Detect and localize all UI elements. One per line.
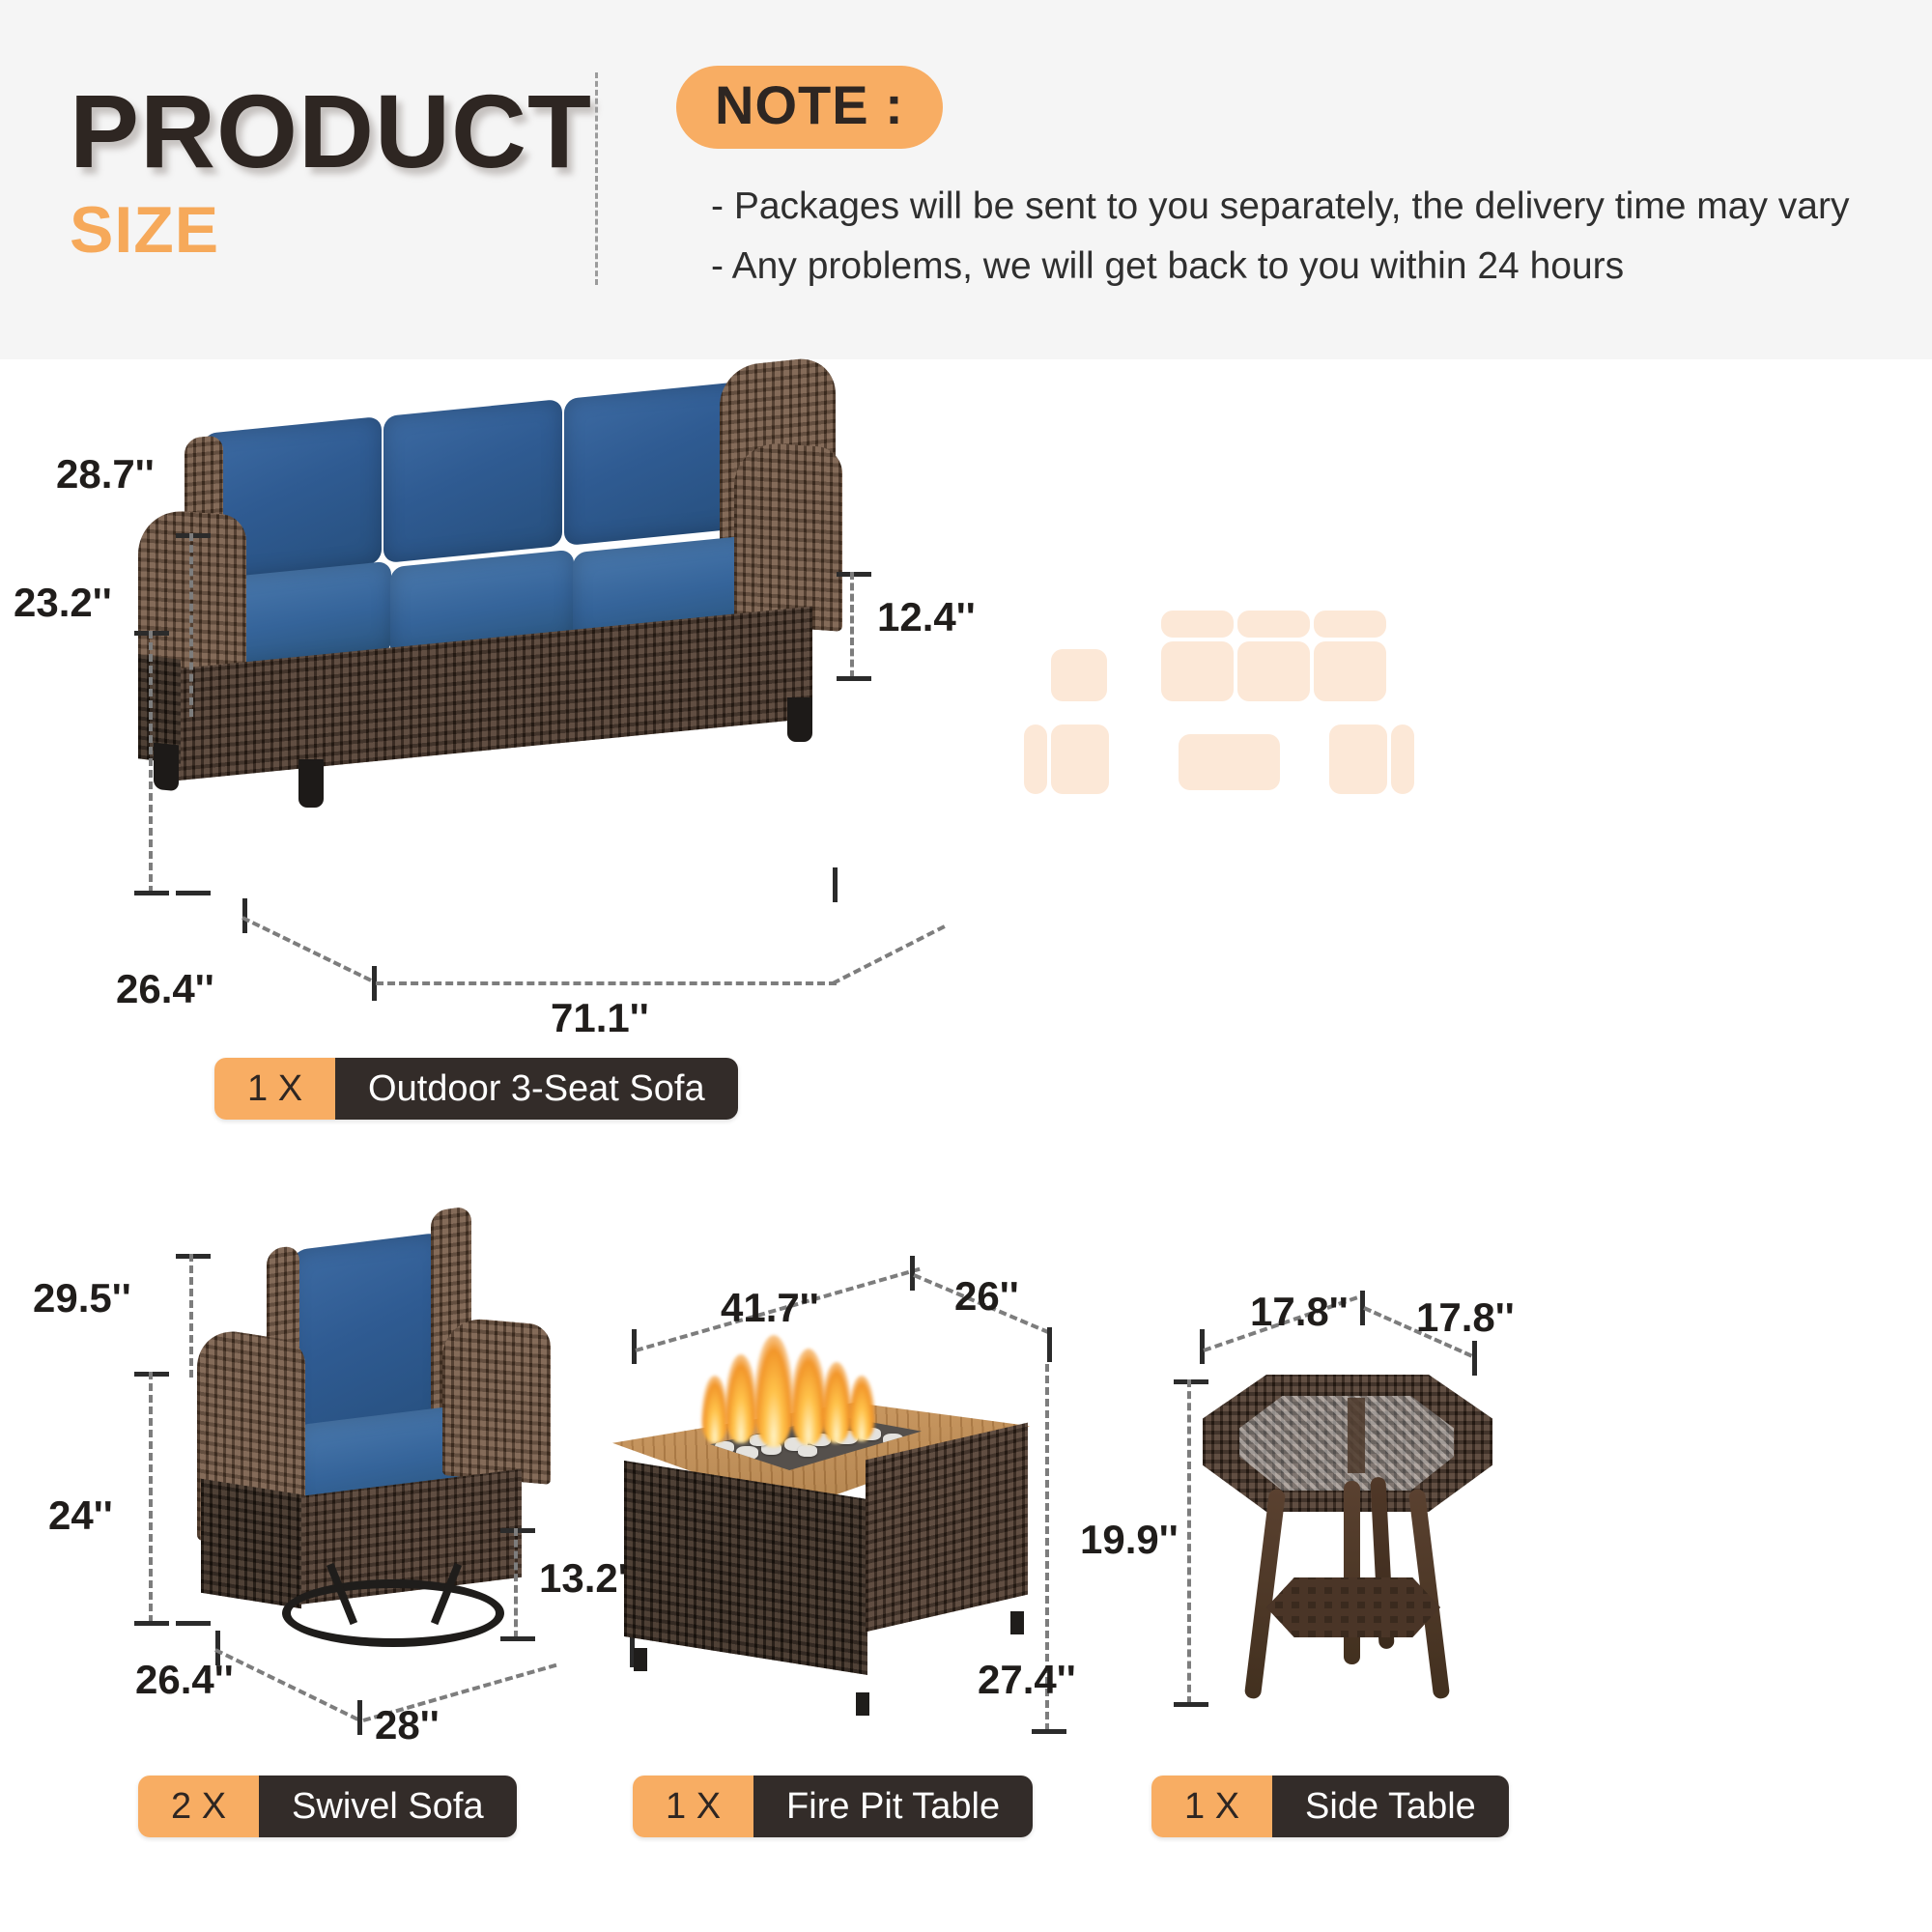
chair-dim-overall-height: 29.5'' bbox=[33, 1275, 131, 1321]
sofa-vline-arm bbox=[149, 631, 153, 894]
fire-pit-foot-left bbox=[634, 1648, 647, 1671]
firepit-tick-left bbox=[632, 1329, 637, 1364]
sofa-tick-bottom-b bbox=[176, 891, 211, 895]
silhouette-sofa-seat-1 bbox=[1161, 641, 1234, 701]
chair-vline-seat bbox=[514, 1528, 518, 1638]
silhouette-side-table-top bbox=[1051, 649, 1107, 701]
sidetable-tick-h-top bbox=[1174, 1379, 1208, 1384]
product-label-swivel-qty: 2 X bbox=[138, 1776, 259, 1837]
sofa-tick-top bbox=[176, 533, 211, 538]
product-label-sofa-qty: 1 X bbox=[214, 1058, 335, 1120]
sidetable-tick-left bbox=[1200, 1329, 1205, 1364]
chair-tick-corner bbox=[357, 1700, 362, 1735]
sidetable-dim-height: 19.9'' bbox=[1080, 1517, 1179, 1563]
sofa-dim-overall-height: 28.7'' bbox=[56, 451, 155, 497]
fire-rock bbox=[798, 1445, 817, 1457]
product-label-firepit-qty: 1 X bbox=[633, 1776, 753, 1837]
note-line-1: - Packages will be sent to you separatel… bbox=[711, 177, 1889, 237]
sofa-tick-bottom-a bbox=[134, 891, 169, 895]
chair-dim-arm-height: 24'' bbox=[48, 1492, 113, 1539]
sofa-leg-front-right bbox=[298, 759, 324, 808]
sofa-dim-depth: 26.4'' bbox=[116, 966, 214, 1012]
firepit-dim-length: 41.7'' bbox=[721, 1285, 819, 1331]
product-label-firepit-name: Fire Pit Table bbox=[753, 1776, 1033, 1837]
firepit-dim-width: 26'' bbox=[954, 1273, 1019, 1320]
firepit-tick-height-bottom bbox=[1032, 1729, 1066, 1734]
fire-pit-foot-right bbox=[856, 1692, 869, 1716]
title-size: SIZE bbox=[70, 197, 572, 263]
sidetable-dim-depth: 17.8'' bbox=[1416, 1294, 1515, 1341]
note-line-2: - Any problems, we will get back to you … bbox=[711, 237, 1889, 297]
silhouette-sofa-back-3 bbox=[1314, 611, 1386, 638]
sofa-dim-seat-height: 12.4'' bbox=[877, 594, 976, 640]
product-label-sidetable-name: Side Table bbox=[1272, 1776, 1509, 1837]
set-layout-silhouette bbox=[1024, 609, 1430, 821]
chair-tick-top bbox=[176, 1254, 211, 1259]
silhouette-chair-right-seat bbox=[1329, 724, 1387, 794]
note-badge: NOTE : bbox=[676, 66, 943, 149]
silhouette-chair-right-arm bbox=[1391, 724, 1414, 794]
silhouette-sofa-back-1 bbox=[1161, 611, 1234, 638]
sofa-tick-seat-top bbox=[837, 572, 871, 577]
product-label-firepit: 1 X Fire Pit Table bbox=[633, 1776, 1033, 1837]
flame bbox=[701, 1376, 728, 1443]
fire-pit-cabinet-front bbox=[624, 1461, 867, 1675]
product-label-swivel: 2 X Swivel Sofa bbox=[138, 1776, 517, 1837]
product-label-sofa-name: Outdoor 3-Seat Sofa bbox=[335, 1058, 738, 1120]
side-table-center-post bbox=[1348, 1398, 1365, 1473]
chair-base-side bbox=[201, 1479, 301, 1608]
silhouette-chair-left-seat bbox=[1051, 724, 1109, 794]
chair-swivel-base bbox=[282, 1579, 504, 1647]
sofa-right-arm bbox=[734, 440, 842, 632]
header-divider bbox=[595, 72, 598, 285]
side-table-lower-shelf bbox=[1266, 1577, 1440, 1637]
sidetable-vline-height bbox=[1187, 1379, 1191, 1704]
product-label-swivel-name: Swivel Sofa bbox=[259, 1776, 517, 1837]
sofa-illustration bbox=[208, 454, 884, 937]
flame bbox=[821, 1362, 852, 1443]
silhouette-chair-left-arm bbox=[1024, 724, 1047, 794]
silhouette-sofa-back-2 bbox=[1237, 611, 1310, 638]
flame bbox=[848, 1376, 875, 1441]
fire-pit-cabinet-side bbox=[866, 1423, 1028, 1633]
sofa-tick-seat-bottom bbox=[837, 676, 871, 681]
firepit-tick-right bbox=[1047, 1327, 1052, 1362]
fire-pit-foot-far bbox=[1010, 1611, 1024, 1634]
sofa-tick-width-end bbox=[833, 867, 838, 902]
chair-dim-depth: 26.4'' bbox=[135, 1657, 234, 1703]
sidetable-dim-width: 17.8'' bbox=[1250, 1289, 1349, 1335]
sofa-vline-seat bbox=[850, 572, 854, 678]
sofa-dim-width: 71.1'' bbox=[551, 995, 649, 1041]
page-title: PRODUCT SIZE bbox=[70, 79, 572, 263]
product-label-sidetable: 1 X Side Table bbox=[1151, 1776, 1509, 1837]
sofa-back-cushion-3 bbox=[564, 382, 743, 546]
sofa-width-line bbox=[376, 981, 837, 985]
chair-vline-overall bbox=[189, 1254, 193, 1378]
chair-tick-bottom-b bbox=[176, 1621, 211, 1626]
silhouette-fire-pit bbox=[1179, 734, 1280, 790]
chair-dim-width: 28'' bbox=[375, 1702, 440, 1748]
chair-tick-seat-bottom bbox=[500, 1636, 535, 1641]
note-lines: - Packages will be sent to you separatel… bbox=[711, 177, 1889, 296]
sofa-back-cushion-2 bbox=[384, 399, 562, 563]
sofa-leg-front-left bbox=[154, 743, 179, 792]
sidetable-tick-h-bottom bbox=[1174, 1702, 1208, 1707]
sofa-leg-back-right bbox=[787, 697, 812, 742]
swivel-chair-illustration bbox=[193, 1251, 599, 1686]
header-band: PRODUCT SIZE NOTE : - Packages will be s… bbox=[0, 0, 1932, 359]
product-label-sofa: 1 X Outdoor 3-Seat Sofa bbox=[214, 1058, 738, 1120]
product-label-sidetable-qty: 1 X bbox=[1151, 1776, 1272, 1837]
title-product: PRODUCT bbox=[70, 79, 572, 184]
product-size-infographic: PRODUCT SIZE NOTE : - Packages will be s… bbox=[0, 0, 1932, 1932]
note-badge-wrap: NOTE : bbox=[676, 66, 943, 149]
sofa-vline-overall bbox=[189, 533, 193, 717]
flame bbox=[753, 1335, 794, 1447]
chair-tick-seat-top bbox=[500, 1528, 535, 1533]
chair-vline-arm bbox=[149, 1372, 153, 1623]
sidetable-tick-right bbox=[1472, 1341, 1477, 1376]
silhouette-sofa-seat-3 bbox=[1314, 641, 1386, 701]
firepit-dim-height: 27.4'' bbox=[978, 1657, 1076, 1703]
chair-tick-bottom-a bbox=[134, 1621, 169, 1626]
side-table-illustration bbox=[1203, 1367, 1521, 1724]
sofa-dim-arm-height: 23.2'' bbox=[14, 580, 112, 626]
side-table-glass-top bbox=[1239, 1396, 1454, 1491]
chair-right-arm bbox=[442, 1316, 551, 1485]
flame bbox=[724, 1354, 757, 1443]
silhouette-sofa-seat-2 bbox=[1237, 641, 1310, 701]
